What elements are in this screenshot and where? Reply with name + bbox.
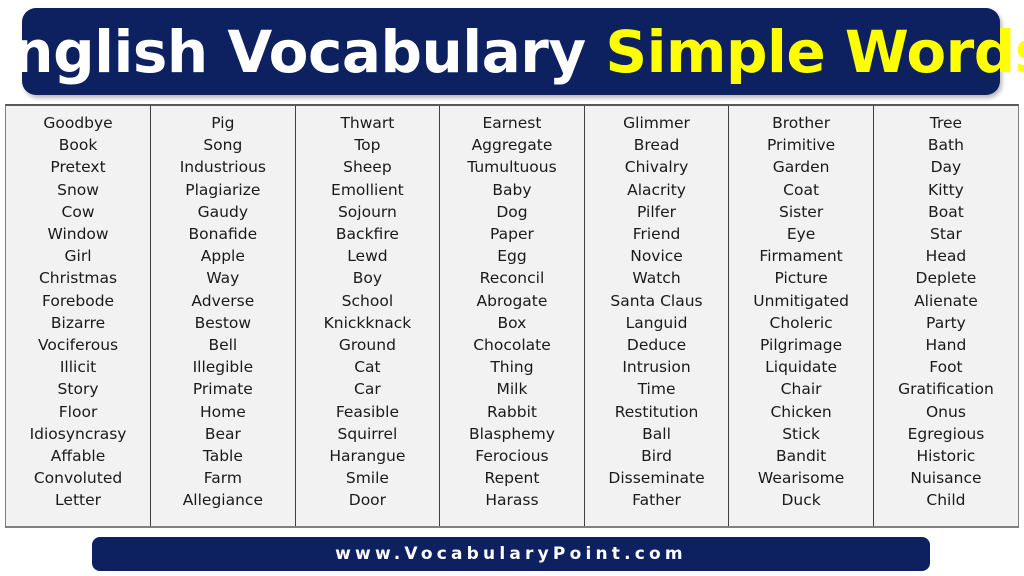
list-item: Bath bbox=[878, 134, 1014, 156]
list-item: Ground bbox=[300, 334, 436, 356]
list-item: Onus bbox=[878, 401, 1014, 423]
word-list-1: Goodbye Book Pretext Snow Cow Window Gir… bbox=[6, 106, 150, 512]
list-item: Harangue bbox=[300, 445, 436, 467]
list-item: Feasible bbox=[300, 401, 436, 423]
list-item: Affable bbox=[10, 445, 146, 467]
list-item: Unmitigated bbox=[733, 290, 869, 312]
list-item: Glimmer bbox=[589, 112, 725, 134]
list-item: Wearisome bbox=[733, 467, 869, 489]
list-item: Door bbox=[300, 489, 436, 511]
list-item: Day bbox=[878, 156, 1014, 178]
list-item: Illicit bbox=[10, 356, 146, 378]
list-item: Car bbox=[300, 378, 436, 400]
word-column-5: Glimmer Bread Chivalry Alacrity Pilfer F… bbox=[584, 106, 729, 526]
list-item: Bread bbox=[589, 134, 725, 156]
list-item: Way bbox=[155, 267, 291, 289]
list-item: Coat bbox=[733, 179, 869, 201]
list-item: Vociferous bbox=[10, 334, 146, 356]
page-title: English Vocabulary Simple Words bbox=[0, 23, 1024, 81]
list-item: Goodbye bbox=[10, 112, 146, 134]
list-item: Paper bbox=[444, 223, 580, 245]
list-item: Deduce bbox=[589, 334, 725, 356]
list-item: Sister bbox=[733, 201, 869, 223]
list-item: Adverse bbox=[155, 290, 291, 312]
list-item: Thwart bbox=[300, 112, 436, 134]
list-item: Chair bbox=[733, 378, 869, 400]
list-item: Floor bbox=[10, 401, 146, 423]
list-item: Egg bbox=[444, 245, 580, 267]
list-item: Restitution bbox=[589, 401, 725, 423]
table-row: Goodbye Book Pretext Snow Cow Window Gir… bbox=[6, 106, 1018, 526]
list-item: Rabbit bbox=[444, 401, 580, 423]
word-column-1: Goodbye Book Pretext Snow Cow Window Gir… bbox=[6, 106, 151, 526]
list-item: Bestow bbox=[155, 312, 291, 334]
list-item: Boat bbox=[878, 201, 1014, 223]
list-item: Alacrity bbox=[589, 179, 725, 201]
list-item: Bonafide bbox=[155, 223, 291, 245]
list-item: Lewd bbox=[300, 245, 436, 267]
list-item: Apple bbox=[155, 245, 291, 267]
list-item: Home bbox=[155, 401, 291, 423]
list-item: Aggregate bbox=[444, 134, 580, 156]
list-item: Santa Claus bbox=[589, 290, 725, 312]
list-item: Letter bbox=[10, 489, 146, 511]
list-item: Watch bbox=[589, 267, 725, 289]
list-item: Bandit bbox=[733, 445, 869, 467]
list-item: Pilgrimage bbox=[733, 334, 869, 356]
list-item: Pig bbox=[155, 112, 291, 134]
list-item: Knickknack bbox=[300, 312, 436, 334]
list-item: Pretext bbox=[10, 156, 146, 178]
list-item: Tree bbox=[878, 112, 1014, 134]
list-item: Primate bbox=[155, 378, 291, 400]
page-title-primary: English Vocabulary bbox=[0, 18, 605, 86]
list-item: Repent bbox=[444, 467, 580, 489]
list-item: Liquidate bbox=[733, 356, 869, 378]
list-item: Boy bbox=[300, 267, 436, 289]
list-item: Languid bbox=[589, 312, 725, 334]
list-item: Duck bbox=[733, 489, 869, 511]
list-item: Hand bbox=[878, 334, 1014, 356]
list-item: School bbox=[300, 290, 436, 312]
word-list-6: Brother Primitive Garden Coat Sister Eye… bbox=[729, 106, 873, 512]
page-title-accent: Simple Words bbox=[605, 18, 1024, 86]
word-column-6: Brother Primitive Garden Coat Sister Eye… bbox=[729, 106, 874, 526]
list-item: Reconcil bbox=[444, 267, 580, 289]
word-list-2: Pig Song Industrious Plagiarize Gaudy Bo… bbox=[151, 106, 295, 512]
list-item: Gaudy bbox=[155, 201, 291, 223]
list-item: Alienate bbox=[878, 290, 1014, 312]
list-item: Industrious bbox=[155, 156, 291, 178]
word-column-4: Earnest Aggregate Tumultuous Baby Dog Pa… bbox=[440, 106, 585, 526]
list-item: Christmas bbox=[10, 267, 146, 289]
list-item: Egregious bbox=[878, 423, 1014, 445]
list-item: Snow bbox=[10, 179, 146, 201]
list-item: Gratification bbox=[878, 378, 1014, 400]
list-item: Sheep bbox=[300, 156, 436, 178]
word-column-2: Pig Song Industrious Plagiarize Gaudy Bo… bbox=[151, 106, 296, 526]
website-url[interactable]: www.VocabularyPoint.com bbox=[335, 544, 687, 564]
list-item: Idiosyncrasy bbox=[10, 423, 146, 445]
list-item: Backfire bbox=[300, 223, 436, 245]
list-item: Convoluted bbox=[10, 467, 146, 489]
list-item: Intrusion bbox=[589, 356, 725, 378]
list-item: Pilfer bbox=[589, 201, 725, 223]
list-item: Tumultuous bbox=[444, 156, 580, 178]
list-item: Emollient bbox=[300, 179, 436, 201]
list-item: Cow bbox=[10, 201, 146, 223]
list-item: Box bbox=[444, 312, 580, 334]
list-item: Head bbox=[878, 245, 1014, 267]
list-item: Dog bbox=[444, 201, 580, 223]
word-list-7: Tree Bath Day Kitty Boat Star Head Deple… bbox=[874, 106, 1018, 512]
list-item: Bell bbox=[155, 334, 291, 356]
list-item: Bizarre bbox=[10, 312, 146, 334]
list-item: Allegiance bbox=[155, 489, 291, 511]
list-item: Garden bbox=[733, 156, 869, 178]
list-item: Kitty bbox=[878, 179, 1014, 201]
list-item: Farm bbox=[155, 467, 291, 489]
list-item: Friend bbox=[589, 223, 725, 245]
list-item: Illegible bbox=[155, 356, 291, 378]
list-item: Plagiarize bbox=[155, 179, 291, 201]
list-item: Ferocious bbox=[444, 445, 580, 467]
list-item: Party bbox=[878, 312, 1014, 334]
header-banner: English Vocabulary Simple Words bbox=[22, 8, 1000, 95]
list-item: Chicken bbox=[733, 401, 869, 423]
list-item: Story bbox=[10, 378, 146, 400]
list-item: Earnest bbox=[444, 112, 580, 134]
list-item: Top bbox=[300, 134, 436, 156]
list-item: Cat bbox=[300, 356, 436, 378]
vocabulary-table-container: Goodbye Book Pretext Snow Cow Window Gir… bbox=[5, 104, 1019, 528]
word-list-3: Thwart Top Sheep Emollient Sojourn Backf… bbox=[296, 106, 440, 512]
list-item: Ball bbox=[589, 423, 725, 445]
list-item: Song bbox=[155, 134, 291, 156]
list-item: Sojourn bbox=[300, 201, 436, 223]
footer-banner: www.VocabularyPoint.com bbox=[92, 537, 930, 571]
list-item: Bear bbox=[155, 423, 291, 445]
list-item: Chivalry bbox=[589, 156, 725, 178]
list-item: Nuisance bbox=[878, 467, 1014, 489]
list-item: Choleric bbox=[733, 312, 869, 334]
list-item: Time bbox=[589, 378, 725, 400]
list-item: Father bbox=[589, 489, 725, 511]
list-item: Book bbox=[10, 134, 146, 156]
list-item: Eye bbox=[733, 223, 869, 245]
list-item: Child bbox=[878, 489, 1014, 511]
list-item: Blasphemy bbox=[444, 423, 580, 445]
list-item: Harass bbox=[444, 489, 580, 511]
list-item: Smile bbox=[300, 467, 436, 489]
list-item: Window bbox=[10, 223, 146, 245]
list-item: Picture bbox=[733, 267, 869, 289]
list-item: Firmament bbox=[733, 245, 869, 267]
list-item: Abrogate bbox=[444, 290, 580, 312]
list-item: Novice bbox=[589, 245, 725, 267]
word-column-7: Tree Bath Day Kitty Boat Star Head Deple… bbox=[873, 106, 1018, 526]
list-item: Bird bbox=[589, 445, 725, 467]
list-item: Thing bbox=[444, 356, 580, 378]
list-item: Baby bbox=[444, 179, 580, 201]
list-item: Stick bbox=[733, 423, 869, 445]
list-item: Disseminate bbox=[589, 467, 725, 489]
list-item: Chocolate bbox=[444, 334, 580, 356]
word-column-3: Thwart Top Sheep Emollient Sojourn Backf… bbox=[295, 106, 440, 526]
word-list-4: Earnest Aggregate Tumultuous Baby Dog Pa… bbox=[440, 106, 584, 512]
list-item: Squirrel bbox=[300, 423, 436, 445]
list-item: Forebode bbox=[10, 290, 146, 312]
list-item: Star bbox=[878, 223, 1014, 245]
list-item: Table bbox=[155, 445, 291, 467]
vocabulary-table: Goodbye Book Pretext Snow Cow Window Gir… bbox=[6, 106, 1018, 526]
list-item: Girl bbox=[10, 245, 146, 267]
list-item: Brother bbox=[733, 112, 869, 134]
list-item: Primitive bbox=[733, 134, 869, 156]
word-list-5: Glimmer Bread Chivalry Alacrity Pilfer F… bbox=[585, 106, 729, 512]
list-item: Historic bbox=[878, 445, 1014, 467]
list-item: Deplete bbox=[878, 267, 1014, 289]
list-item: Foot bbox=[878, 356, 1014, 378]
list-item: Milk bbox=[444, 378, 580, 400]
